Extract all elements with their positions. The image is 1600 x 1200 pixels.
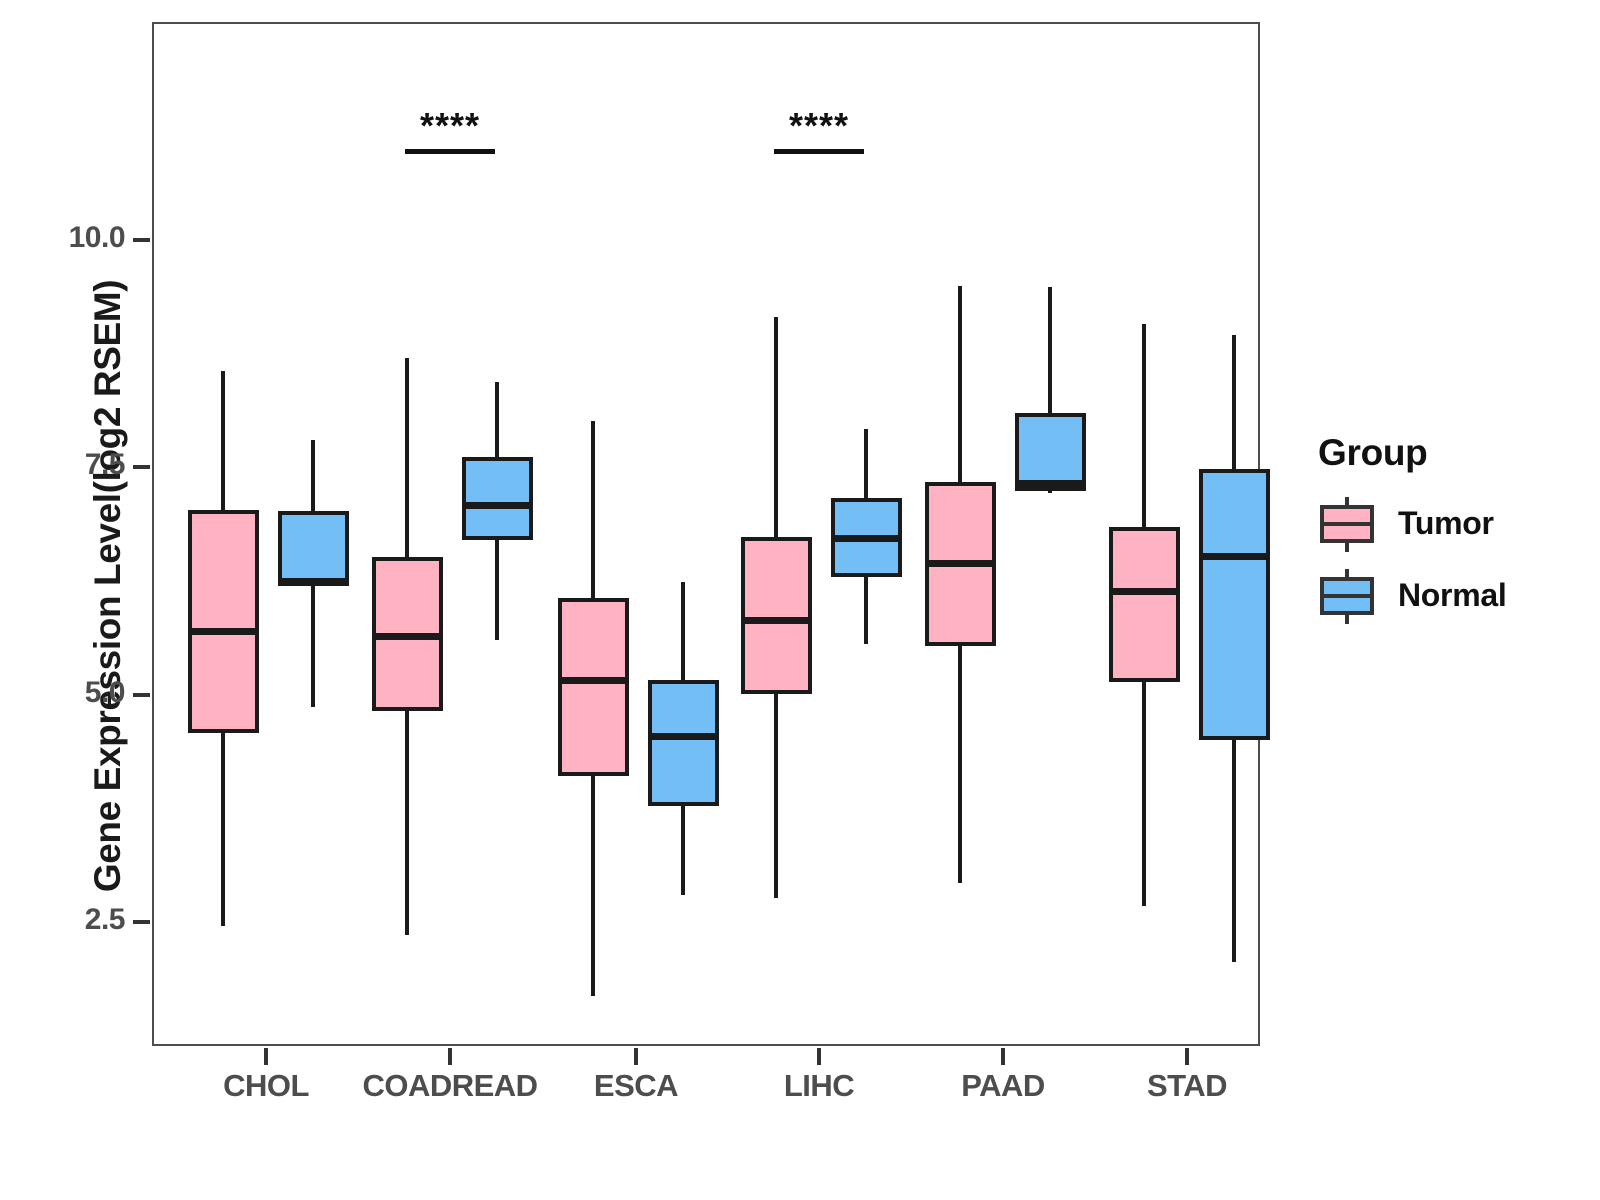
significance-bar: [774, 149, 864, 154]
significance-bar: [405, 149, 495, 154]
legend-title: Group: [1318, 432, 1588, 474]
box-median-line: [372, 633, 443, 640]
box-median-line: [188, 628, 259, 635]
y-axis-tick-label: 10.0: [5, 221, 125, 255]
box-tumor-stad[interactable]: [1109, 527, 1180, 682]
box-median-line: [558, 677, 629, 684]
box-median-line: [831, 535, 902, 542]
box-median-line: [1199, 553, 1270, 560]
y-axis-tick: [133, 465, 150, 469]
x-axis-tick: [1185, 1048, 1189, 1065]
y-axis-tick-label: 7.5: [5, 448, 125, 482]
box-normal-coadread[interactable]: [462, 457, 533, 541]
x-axis-tick: [634, 1048, 638, 1065]
x-axis-tick: [817, 1048, 821, 1065]
box-normal-stad[interactable]: [1199, 469, 1270, 740]
box-median-line: [1109, 588, 1180, 595]
legend-label-tumor: Tumor: [1398, 505, 1494, 542]
legend-label-normal: Normal: [1398, 577, 1506, 614]
legend: Group Tumor Normal: [1318, 432, 1588, 636]
box-median-line: [462, 502, 533, 509]
box-median-line: [741, 617, 812, 624]
legend-key-normal-icon: [1318, 569, 1376, 621]
box-normal-esca[interactable]: [648, 680, 719, 805]
box-tumor-esca[interactable]: [558, 598, 629, 776]
y-axis-tick: [133, 238, 150, 242]
box-tumor-lihc[interactable]: [741, 537, 812, 694]
box-normal-chol[interactable]: [278, 511, 349, 586]
y-axis-tick-label: 5.0: [5, 676, 125, 710]
legend-item-normal[interactable]: Normal: [1318, 564, 1588, 626]
plot-panel: [152, 22, 1260, 1046]
significance-stars: ****: [330, 105, 570, 147]
x-axis-tick: [1001, 1048, 1005, 1065]
y-axis-title: Gene Expression Level(log2 RSEM): [87, 206, 129, 966]
box-median-line: [648, 733, 719, 740]
y-axis-tick: [133, 693, 150, 697]
box-tumor-chol[interactable]: [188, 510, 259, 733]
x-axis-tick-label-stad: STAD: [1077, 1068, 1297, 1104]
x-axis-tick: [264, 1048, 268, 1065]
y-axis-tick: [133, 920, 150, 924]
legend-item-tumor[interactable]: Tumor: [1318, 492, 1588, 554]
significance-stars: ****: [699, 105, 939, 147]
x-axis-tick: [448, 1048, 452, 1065]
box-median-line: [278, 578, 349, 585]
box-median-line: [1015, 480, 1086, 487]
y-axis-tick-label: 2.5: [5, 903, 125, 937]
plot-area: [154, 24, 1258, 1044]
chart-root: Gene Expression Level(log2 RSEM) 2.55.07…: [0, 0, 1600, 1200]
legend-key-tumor-icon: [1318, 497, 1376, 549]
box-median-line: [925, 560, 996, 567]
